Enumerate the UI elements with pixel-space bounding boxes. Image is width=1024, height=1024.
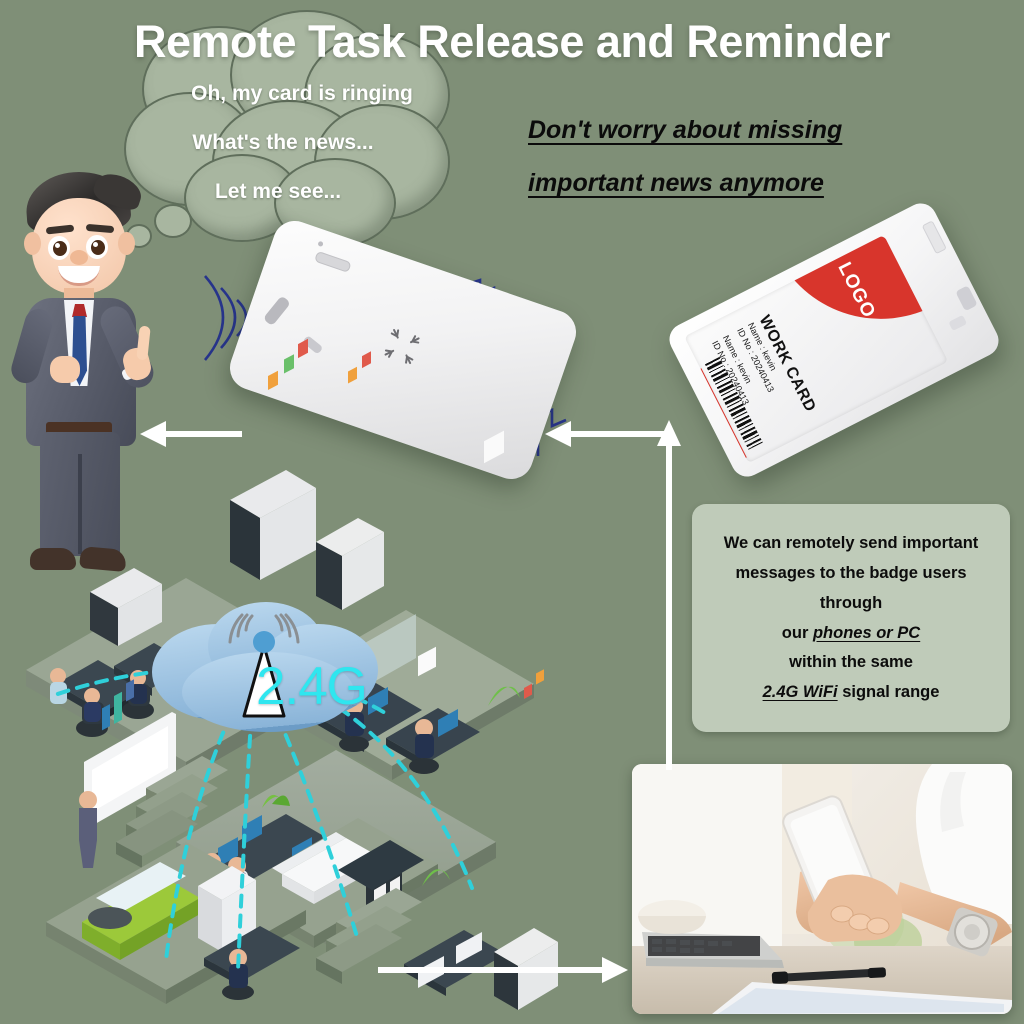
hand-left (50, 356, 80, 383)
device-speaker (314, 251, 352, 273)
work-card-speaker-slot (922, 220, 947, 254)
info-line-4: our phones or PC (782, 624, 920, 643)
headline-line-2: important news anymore (528, 169, 948, 198)
info-line-3: through (820, 594, 882, 613)
info-line-4-emphasis: phones or PC (813, 624, 920, 642)
info-line-4-pre: our (782, 624, 813, 642)
page-title: Remote Task Release and Reminder (0, 16, 1024, 68)
info-line-6-post: signal range (838, 683, 940, 701)
thought-line-1: Oh, my card is ringing (128, 82, 468, 106)
headline: Don't worry about missing important news… (528, 116, 948, 222)
eye-left (48, 236, 70, 260)
work-card-title: WORK CARD (755, 313, 819, 415)
info-line-6-emphasis: 2.4G WiFi (763, 683, 838, 701)
ear-left (24, 232, 41, 255)
info-text-box: We can remotely send important messages … (692, 504, 1010, 732)
work-card-port (955, 285, 977, 311)
work-card-face: LOGO WORK CARD Name : kevin ID No : 2024… (684, 235, 948, 463)
cloud-label: 2.4G (256, 656, 367, 717)
info-line-1: We can remotely send important (724, 534, 979, 553)
thought-line-2: What's the news... (128, 131, 468, 155)
headline-line-1: Don't worry about missing (528, 116, 948, 145)
info-line-6: 2.4G WiFi signal range (763, 683, 940, 702)
device-sensor-dot (317, 241, 323, 247)
work-card-badge[interactable]: LOGO WORK CARD Name : kevin ID No : 2024… (664, 198, 1004, 482)
device-usb-port (263, 295, 291, 326)
thought-line-3: Let me see... (128, 180, 468, 204)
ear-right (118, 232, 135, 255)
pointing-finger (136, 326, 150, 361)
device-nfc-icon (373, 317, 431, 375)
cloud-2-4g-icon: 2.4G (146, 600, 386, 750)
infographic-canvas: Remote Task Release and Reminder Oh, my … (0, 0, 1024, 1024)
eye-right (86, 235, 108, 259)
nose (70, 250, 88, 265)
info-line-5: within the same (789, 653, 913, 672)
info-line-2: messages to the badge users (735, 564, 966, 583)
work-card-side-button[interactable] (948, 315, 967, 331)
thought-bubble-text: Oh, my card is ringing What's the news..… (128, 82, 468, 229)
person-using-phone-photo (632, 764, 1012, 1014)
